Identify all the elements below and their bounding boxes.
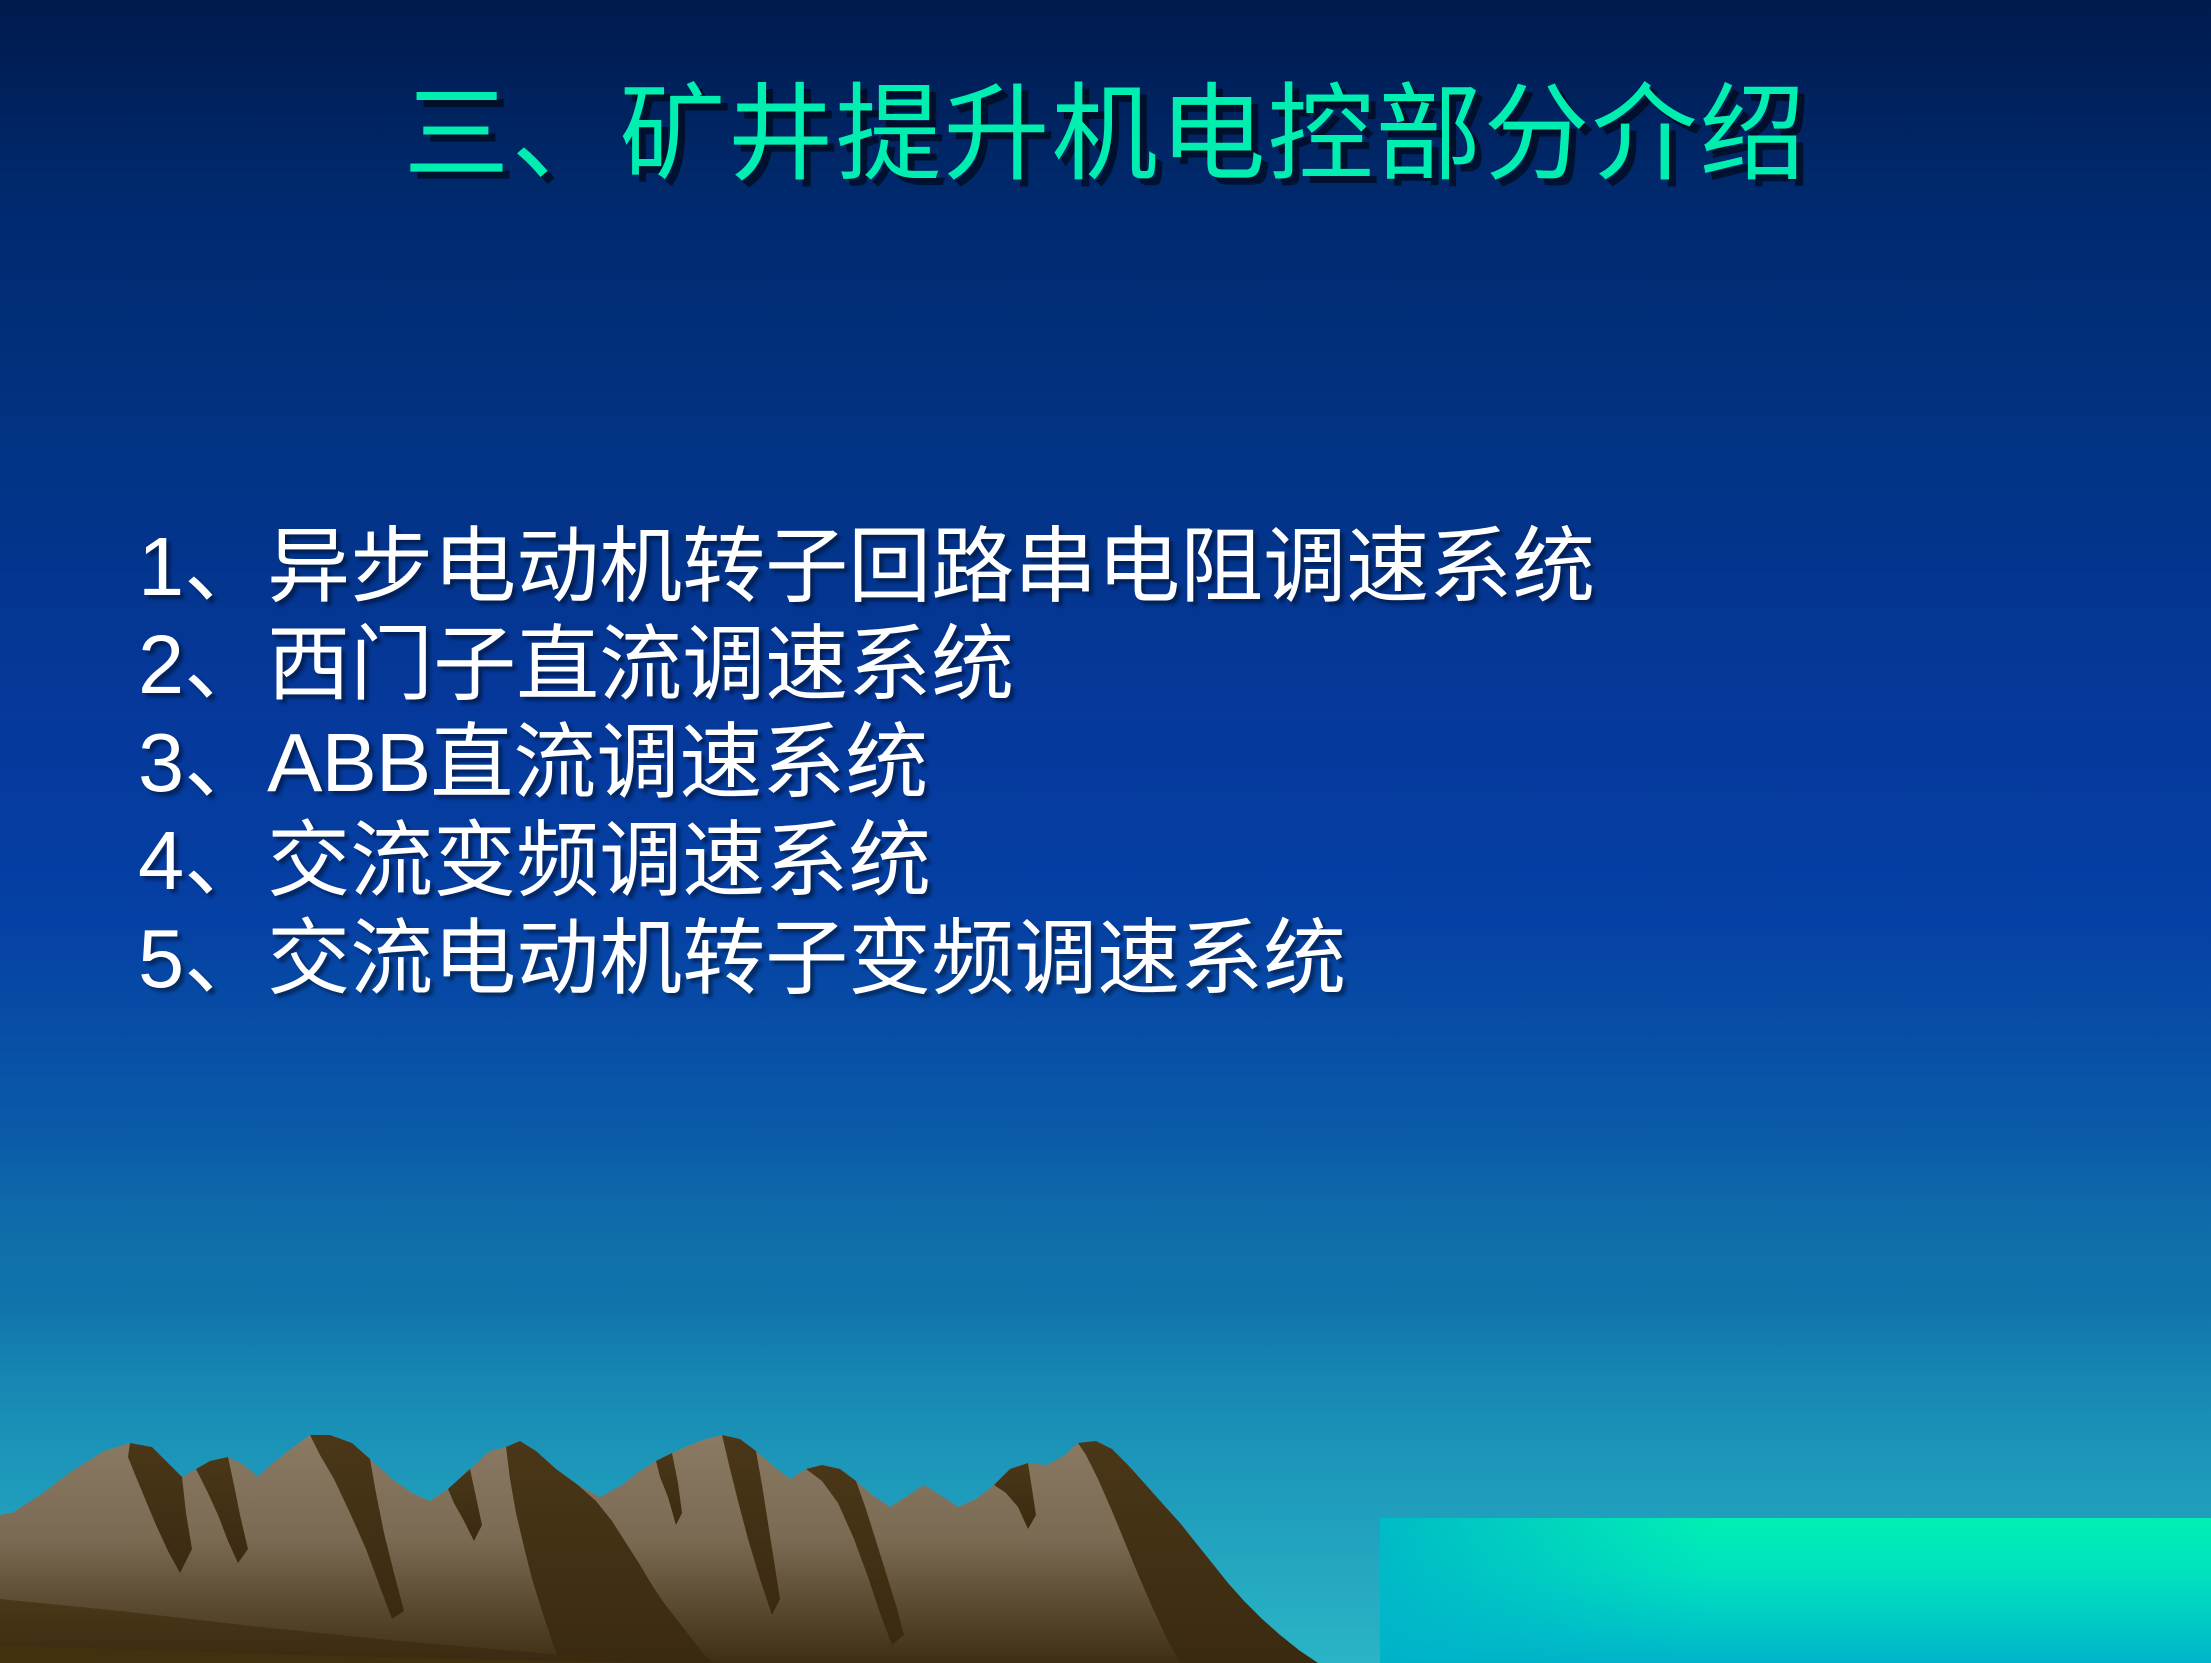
bullet-text-2: 西门子直流调速系统 (267, 619, 1014, 711)
mountain-range-graphic (0, 1373, 2211, 1663)
bullet-number-4: 4、 (138, 814, 267, 907)
bullet-line-2: 2、西门子直流调速系统 (138, 616, 2088, 714)
bullet-text-1: 异步电动机转子回路串电阻调速系统 (267, 521, 1595, 613)
bullet-number-5: 5、 (138, 912, 267, 1005)
bullet-text-3-latin: ABB (267, 716, 430, 809)
bullet-number-2: 2、 (138, 618, 267, 711)
bullet-line-5: 5、交流电动机转子变频调速系统 (138, 910, 2088, 1008)
bullet-text-3-cjk: 直流调速系统 (430, 717, 928, 809)
bullet-line-1: 1、异步电动机转子回路串电阻调速系统 (138, 518, 2088, 616)
slide-body-list: 1、异步电动机转子回路串电阻调速系统 2、西门子直流调速系统 3、ABB直流调速… (138, 518, 2088, 1008)
bullet-line-3: 3、ABB直流调速系统 (138, 714, 2088, 812)
slide-title: 三、矿井提升机电控部分介绍 (0, 78, 2211, 195)
bullet-number-1: 1、 (138, 520, 267, 613)
bullet-line-4: 4、交流变频调速系统 (138, 812, 2088, 910)
bullet-text-5: 交流电动机转子变频调速系统 (267, 913, 1346, 1005)
bullet-text-4: 交流变频调速系统 (267, 815, 931, 907)
bullet-number-3: 3、 (138, 716, 267, 809)
presentation-slide: 三、矿井提升机电控部分介绍 1、异步电动机转子回路串电阻调速系统 2、西门子直流… (0, 0, 2211, 1663)
